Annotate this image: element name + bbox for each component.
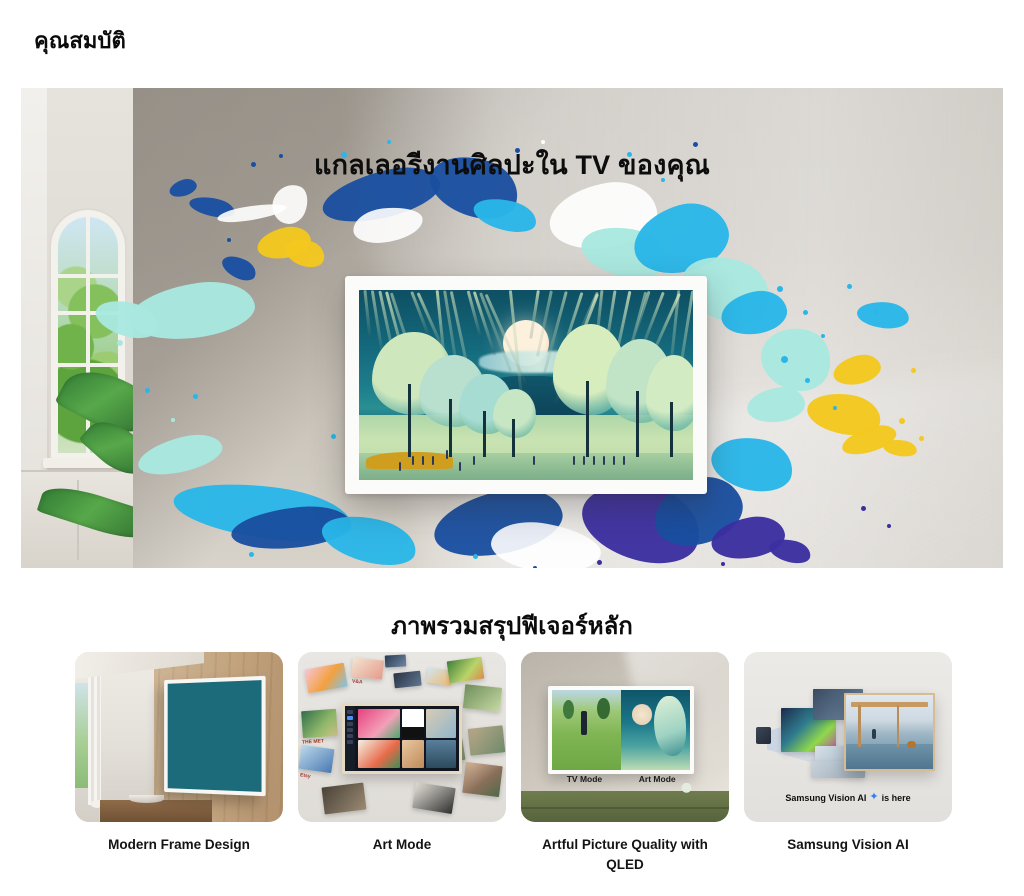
artwork-tree-trunk — [586, 381, 589, 457]
art-tile — [402, 740, 424, 769]
wood-console — [100, 800, 212, 822]
sidebar-icon — [347, 710, 353, 714]
framed-tv — [345, 276, 707, 494]
artwork-figure — [399, 462, 401, 471]
feature-card-modern-frame-design[interactable]: Modern Frame Design — [75, 652, 283, 874]
paint-droplet — [597, 560, 602, 565]
feature-card-caption: Artful Picture Quality with QLED — [521, 835, 729, 874]
art-mode-thumbnail[interactable]: V&ATHE METEtsySaatchi — [298, 652, 506, 822]
art-tile — [426, 740, 457, 769]
paint-droplet — [803, 310, 808, 315]
tv-screen-artwork — [359, 290, 693, 480]
person-figure — [872, 729, 876, 739]
page-title: คุณสมบัติ — [34, 26, 126, 56]
pergola-post — [858, 705, 861, 747]
hero-headline: แกลเลอรีงานศิลปะใน TV ของคุณ — [314, 150, 710, 180]
ai-sparkle-icon: ✦ — [869, 792, 878, 803]
feature-card-caption: Samsung Vision AI — [744, 835, 952, 855]
floating-art-poster — [446, 656, 484, 683]
paint-droplet — [721, 562, 725, 566]
feature-card-caption: Modern Frame Design — [75, 835, 283, 855]
floating-art-poster — [463, 762, 504, 797]
artwork-figure — [613, 456, 615, 465]
split-screen-tv — [548, 686, 694, 774]
sidebar-icon — [347, 728, 353, 732]
vision-ai-frame-tv — [844, 693, 936, 771]
art-store-ui — [345, 706, 460, 771]
poolside-scene — [846, 695, 934, 769]
artwork-figure — [603, 456, 605, 465]
paint-droplet — [533, 566, 537, 568]
pool-float — [907, 741, 916, 748]
paint-droplet — [331, 434, 336, 439]
decor-plant — [677, 780, 696, 794]
paint-droplet — [847, 284, 852, 289]
sidebar-icon — [347, 740, 353, 744]
art-partner-label: Etsy — [300, 772, 311, 779]
art-store-grid — [355, 706, 459, 771]
modern-frame-design-thumbnail[interactable] — [75, 652, 283, 822]
tree — [597, 698, 609, 719]
tv-mode-golf-scene — [552, 690, 621, 770]
art-tile — [358, 740, 400, 769]
paint-droplet — [919, 436, 924, 441]
artwork-figure — [459, 462, 461, 471]
floating-art-poster — [321, 782, 366, 814]
painting-sun — [632, 704, 653, 725]
paint-droplet — [873, 310, 877, 314]
artwork-figure — [446, 450, 448, 459]
artful-picture-quality-thumbnail[interactable]: TV Mode Art Mode — [521, 652, 729, 822]
artwork-tree-trunk — [512, 419, 515, 457]
hero-headline-wrap: แกลเลอรีงานศิลปะใน TV ของคุณ — [21, 143, 1003, 186]
floating-art-poster — [351, 657, 384, 679]
artwork-tree-trunk — [449, 399, 452, 457]
artwork-tree-trunk — [483, 411, 486, 457]
paint-droplet — [473, 554, 478, 559]
window-view — [75, 683, 88, 788]
artwork-figure — [473, 456, 475, 465]
paint-droplet — [833, 406, 837, 410]
paint-droplet — [117, 340, 123, 346]
feature-card-caption: Art Mode — [298, 835, 506, 855]
tv-mode-label: TV Mode — [548, 774, 621, 784]
window-mullion-horizontal-2 — [58, 363, 118, 367]
painting-tree — [654, 696, 686, 755]
frame-tv-artwork — [168, 680, 262, 791]
paint-droplet — [911, 368, 916, 373]
art-store-sidebar — [345, 706, 355, 771]
artwork-figure — [623, 456, 625, 465]
paint-droplet — [249, 552, 254, 557]
features-page: คุณสมบัติ แกลเลอรีงานศิลปะใน TV ของคุณ — [0, 0, 1024, 896]
paint-droplet — [227, 238, 231, 242]
artwork-figure — [593, 456, 595, 465]
wall-mounted-frame-tv — [164, 675, 266, 795]
hero-banner: แกลเลอรีงานศิลปะใน TV ของคุณ — [21, 88, 1003, 568]
artwork-figure — [573, 456, 575, 465]
pergola-beam — [851, 702, 928, 706]
paint-droplet — [887, 524, 891, 528]
feature-card-samsung-vision-ai[interactable]: Samsung Vision AI ✦ is here Samsung Visi… — [744, 652, 952, 874]
feature-card-art-mode[interactable]: V&ATHE METEtsySaatchi — [298, 652, 506, 874]
paint-droplet — [145, 388, 150, 393]
golfer-figure — [581, 711, 587, 735]
feature-card-artful-picture-quality[interactable]: TV Mode Art Mode Artful Picture Quality … — [521, 652, 729, 874]
paint-droplet — [171, 418, 175, 422]
split-screen-content — [552, 690, 690, 770]
floating-art-poster — [299, 745, 335, 773]
sidebar-icon — [347, 734, 353, 738]
art-tile — [358, 709, 400, 738]
artwork-tree-trunk — [636, 391, 639, 457]
curtain — [88, 659, 101, 805]
art-store-tv — [342, 703, 463, 774]
art-tile-moma — [402, 709, 424, 738]
floating-art-poster — [467, 725, 505, 756]
artwork-tree-trunk — [408, 384, 411, 458]
feature-cards: Modern Frame Design V&ATHE METEtsySaatch… — [75, 652, 949, 874]
pool-water — [846, 744, 934, 769]
paint-droplet — [777, 286, 783, 292]
paint-droplet — [899, 418, 905, 424]
tree — [563, 700, 574, 719]
art-partner-label: V&A — [352, 679, 363, 686]
sidebar-icon — [347, 722, 353, 726]
samsung-vision-ai-thumbnail[interactable]: Samsung Vision AI ✦ is here — [744, 652, 952, 822]
floating-art-poster — [301, 709, 338, 739]
floating-art-poster — [385, 655, 406, 668]
art-tile — [426, 709, 457, 738]
paint-droplet — [821, 334, 825, 338]
paint-droplet — [805, 378, 810, 383]
artwork-tree-trunk — [670, 402, 673, 457]
features-title: ภาพรวมสรุปฟีเจอร์หลัก — [0, 606, 1024, 645]
mode-labels: TV Mode Art Mode — [548, 774, 694, 784]
paint-droplet — [781, 356, 788, 363]
sidebar-icon-active — [347, 716, 353, 720]
pergola-post — [897, 705, 900, 747]
artwork-figure — [533, 456, 535, 465]
paint-droplet — [193, 394, 198, 399]
floating-art-poster — [413, 782, 456, 813]
vision-ai-text-before: Samsung Vision AI — [785, 793, 866, 803]
vision-ai-text-after: is here — [882, 793, 911, 803]
ai-chip-icon — [756, 727, 771, 744]
vision-ai-overlay-text: Samsung Vision AI ✦ is here — [744, 792, 952, 803]
art-mode-painting — [621, 690, 690, 770]
artwork-figure — [583, 456, 585, 465]
green-console — [521, 791, 729, 822]
floating-art-poster — [463, 684, 503, 712]
paint-droplet — [861, 506, 866, 511]
